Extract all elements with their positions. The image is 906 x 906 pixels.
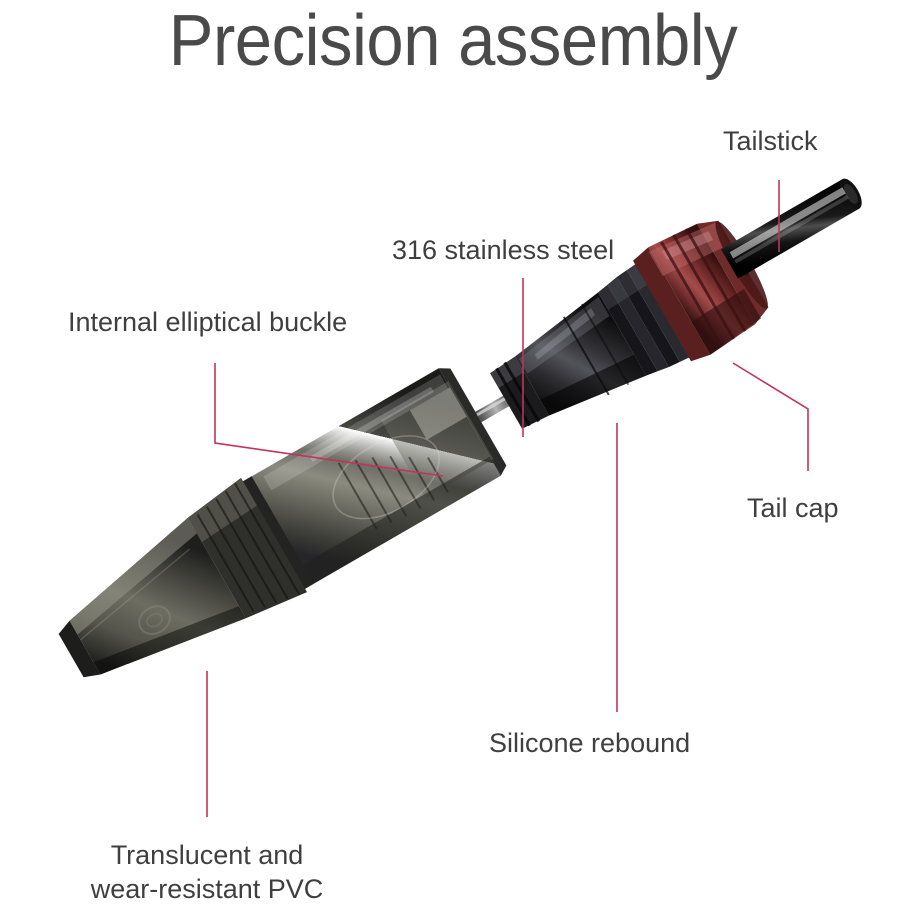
callout-label-silicone-rebound: Silicone rebound [489,726,690,760]
callout-label-translucent-pvc: Translucent and wear-resistant PVC [66,838,348,906]
pvc-cartridge-body [184,360,512,625]
callout-label-tailstick: Tailstick [723,124,818,158]
callout-label-translucent-pvc-line1: Translucent and [66,838,348,872]
callout-label-internal-elliptical-buckle: Internal elliptical buckle [68,305,347,339]
tailstick [721,175,866,278]
illustration-page: Precision assembly [0,0,906,906]
callout-label-translucent-pvc-line2: wear-resistant PVC [66,872,348,906]
callout-label-tail-cap: Tail cap [747,491,839,525]
callout-label-stainless-steel: 316 stainless steel [392,233,614,267]
